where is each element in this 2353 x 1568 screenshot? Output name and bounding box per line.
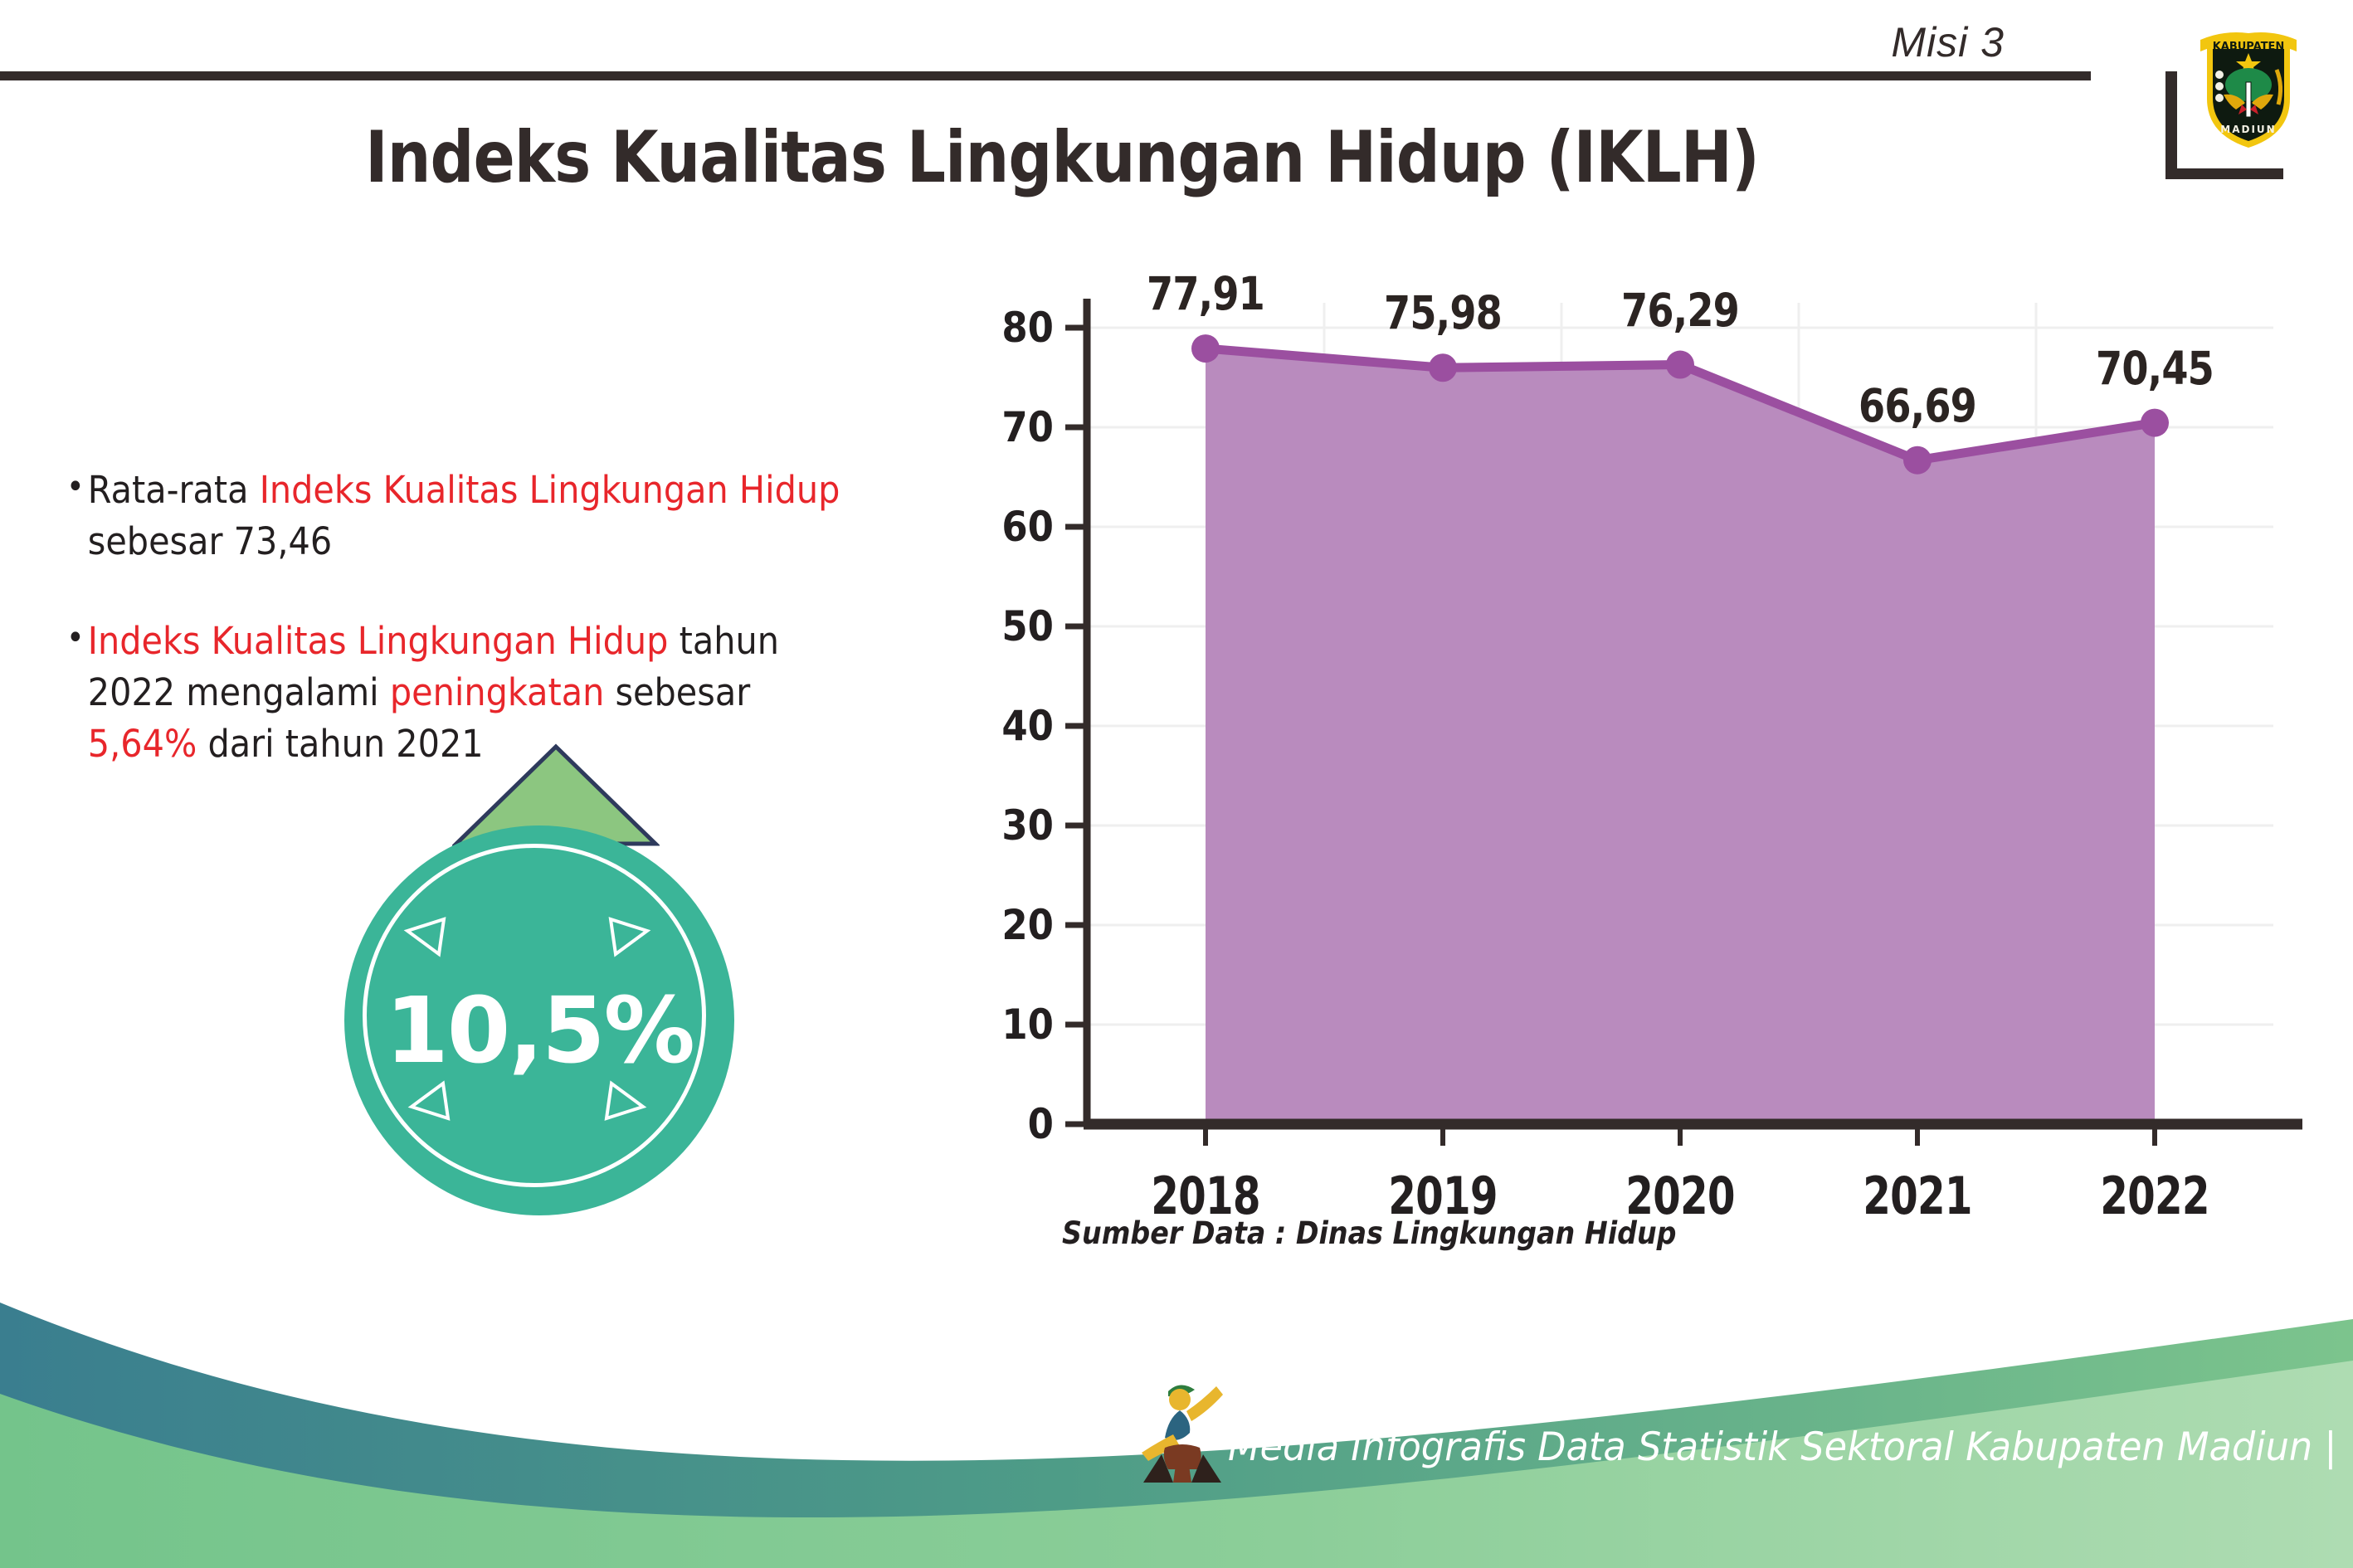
x-axis-tick-label: 2022: [2071, 1166, 2239, 1226]
y-axis-tick-label: 70: [979, 403, 1054, 451]
y-axis-tick-label: 50: [979, 602, 1054, 650]
data-point-label: 66,69: [1827, 379, 2008, 432]
infographic-page: Misi 3 KABUPATEN MADIUN Indeks Kualitas …: [0, 0, 2353, 1568]
body-text: Rata-rata: [88, 468, 260, 512]
y-axis-tick-label: 20: [979, 901, 1054, 949]
badge-arrow-marker-bottom-right: [602, 1079, 648, 1125]
page-title: Indeks Kualitas Lingkungan Hidup (IKLH): [149, 116, 1975, 199]
highlight-text: Indeks Kualitas Lingkungan Hidup: [88, 619, 669, 663]
y-axis-tick-label: 40: [979, 702, 1054, 750]
badge-value: 10,5%: [344, 977, 734, 1083]
y-axis-tick-label: 30: [979, 801, 1054, 850]
highlight-text: peningkatan: [390, 670, 604, 714]
logo-bracket-horizontal: [2165, 168, 2283, 179]
badge-arrow-marker-bottom-left: [407, 1079, 453, 1125]
kabupaten-madiun-crest-icon: KABUPATEN MADIUN: [2190, 12, 2307, 153]
header-divider-line: [0, 71, 2091, 80]
misi-label: Misi 3: [1891, 18, 2005, 66]
list-item: Rata-rata Indeks Kualitas Lingkungan Hid…: [66, 465, 853, 567]
highlight-text: 5,64%: [88, 722, 197, 766]
growth-badge: 10,5%: [328, 743, 776, 1207]
data-point-label: 70,45: [2064, 342, 2245, 395]
madiun-dancer-logo-icon: [1137, 1373, 1228, 1485]
svg-text:KABUPATEN: KABUPATEN: [2213, 41, 2285, 53]
footer-caption: Media Infografis Data Statistik Sektoral…: [1228, 1424, 2336, 1470]
svg-text:MADIUN: MADIUN: [2220, 124, 2276, 135]
body-text: sebesar: [604, 670, 750, 714]
iklh-area-chart: 010203040506070802018201920202021202277,…: [979, 295, 2307, 1273]
x-axis-tick-label: 2021: [1834, 1166, 2002, 1226]
data-point-label: 77,91: [1115, 267, 1296, 320]
data-point-label: 75,98: [1352, 286, 1533, 339]
body-text: sebesar 73,46: [88, 519, 332, 563]
y-axis-tick-label: 10: [979, 1001, 1054, 1049]
y-axis-tick-label: 80: [979, 304, 1054, 352]
badge-arrow-marker-top-left: [402, 913, 449, 959]
logo-bracket-vertical: [2165, 71, 2177, 179]
data-point-label: 76,29: [1590, 284, 1771, 337]
y-axis-tick-label: 0: [979, 1100, 1054, 1148]
highlight-text: Indeks Kualitas Lingkungan Hidup: [260, 468, 840, 512]
source-note: Sumber Data : Dinas Lingkungan Hidup: [1062, 1215, 1676, 1251]
badge-arrow-marker-top-right: [606, 913, 652, 959]
chart-plot: [979, 295, 2307, 1273]
y-axis-tick-label: 60: [979, 503, 1054, 551]
